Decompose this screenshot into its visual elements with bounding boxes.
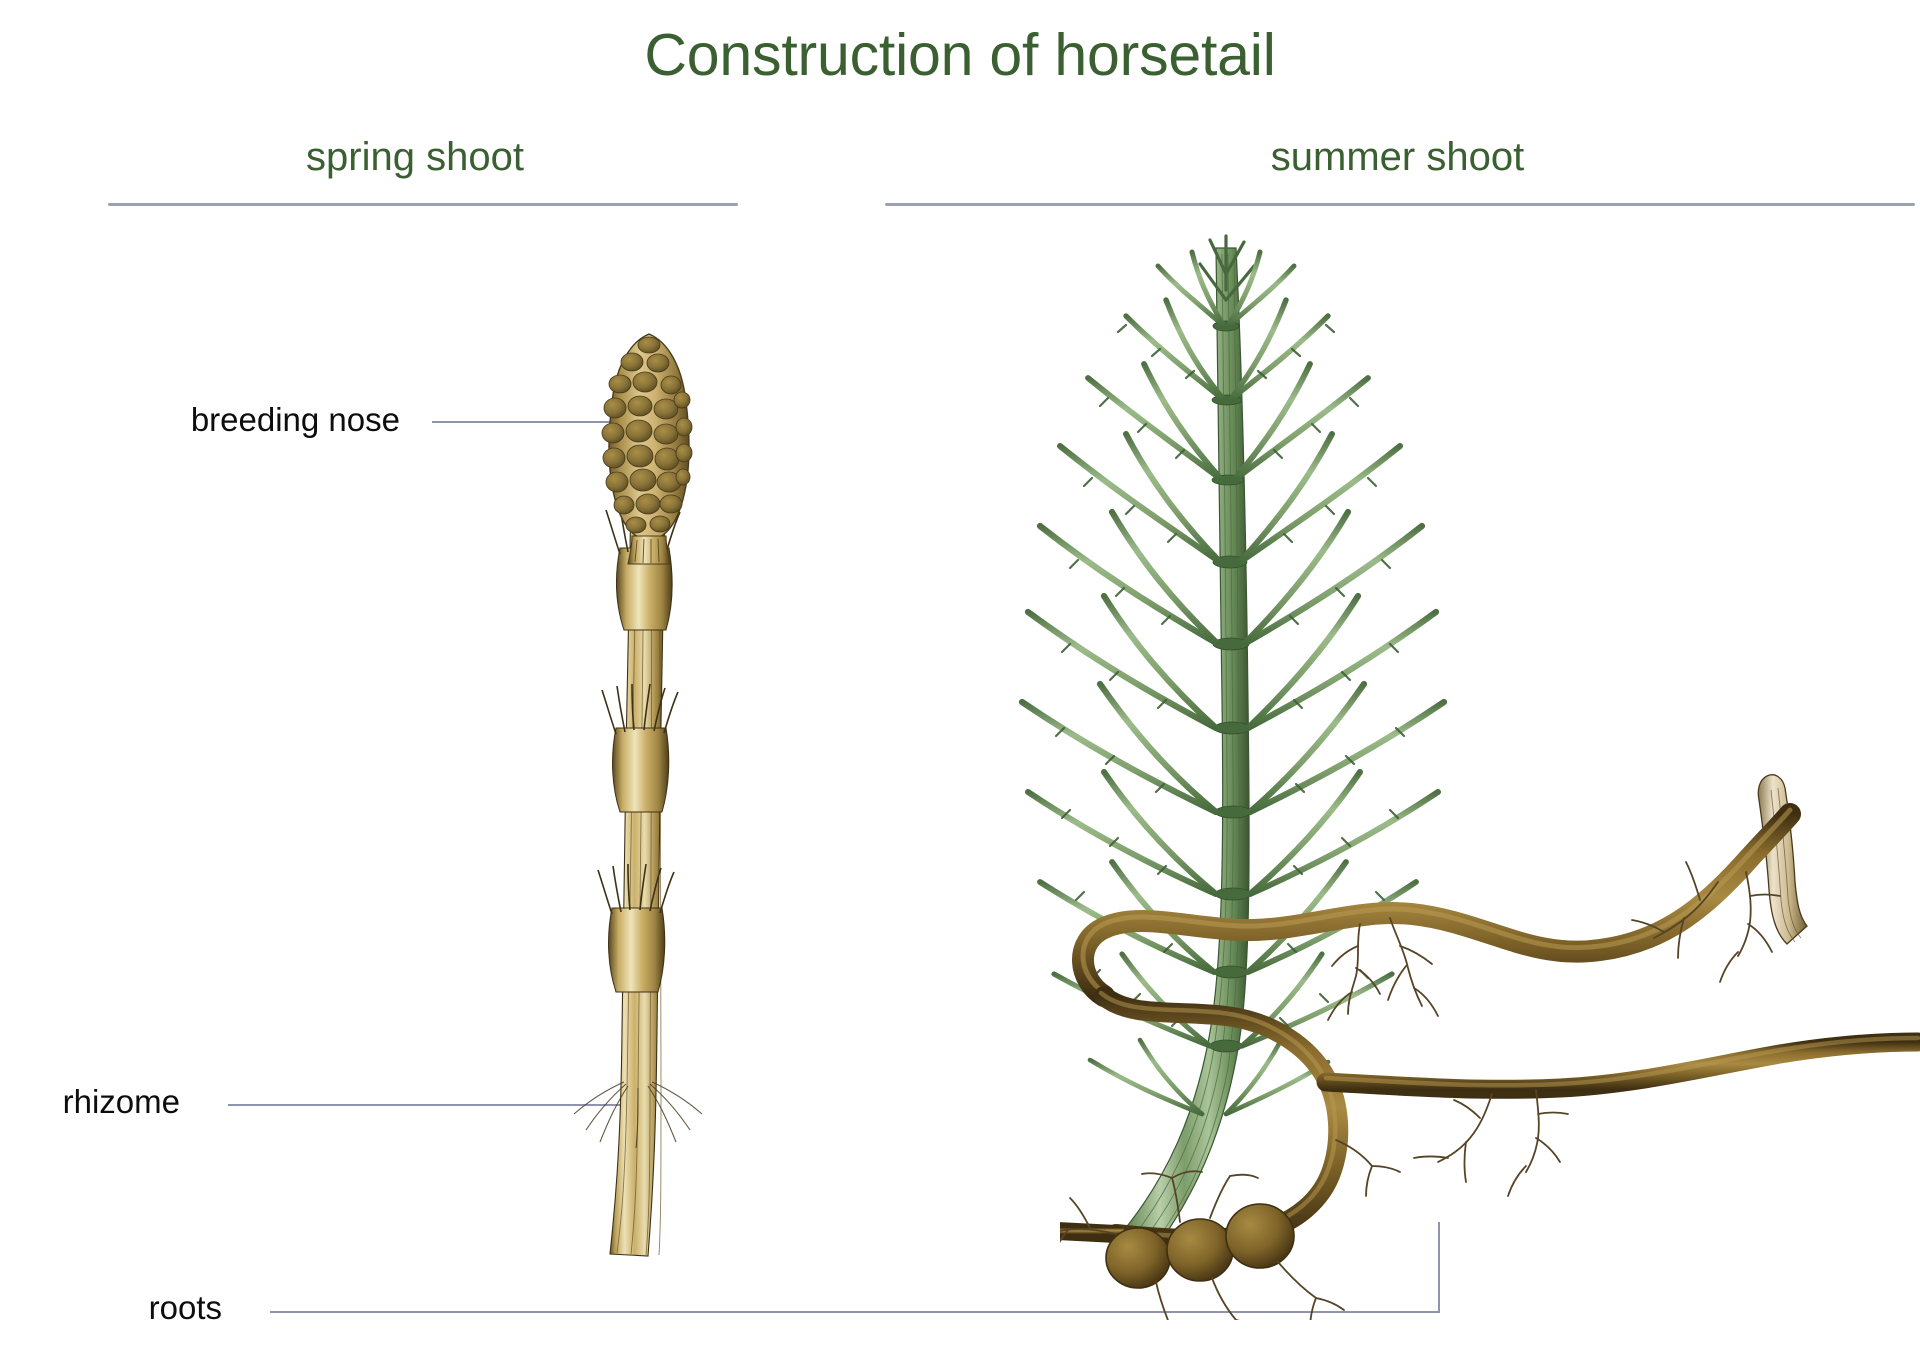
rhizome-tubers (1106, 1204, 1294, 1288)
creeping-rhizome-upper (1083, 810, 1790, 996)
creeping-rhizome-descending (1101, 993, 1338, 1239)
creeping-rhizome-lower (1326, 1038, 1918, 1089)
rhizome-illustration (1060, 760, 1920, 1320)
callout-label-rhizome: rhizome (0, 1082, 180, 1122)
diagram-canvas: Construction of horsetail spring shoot s… (0, 0, 1920, 1370)
section-header-summer-shoot: summer shoot (880, 133, 1915, 181)
spring-shoot-nodal-sheaths (598, 504, 680, 992)
section-rule-spring (108, 203, 738, 206)
section-header-spring-shoot: spring shoot (105, 133, 725, 181)
section-rule-summer (885, 203, 1915, 206)
strobilus-cone (602, 334, 692, 564)
rhizome-young-shoot (1758, 775, 1807, 944)
callout-label-roots: roots (0, 1288, 222, 1328)
callout-label-breeding-nose: breeding nose (0, 400, 400, 440)
spring-shoot-illustration (540, 330, 800, 1260)
page-title: Construction of horsetail (0, 20, 1920, 90)
